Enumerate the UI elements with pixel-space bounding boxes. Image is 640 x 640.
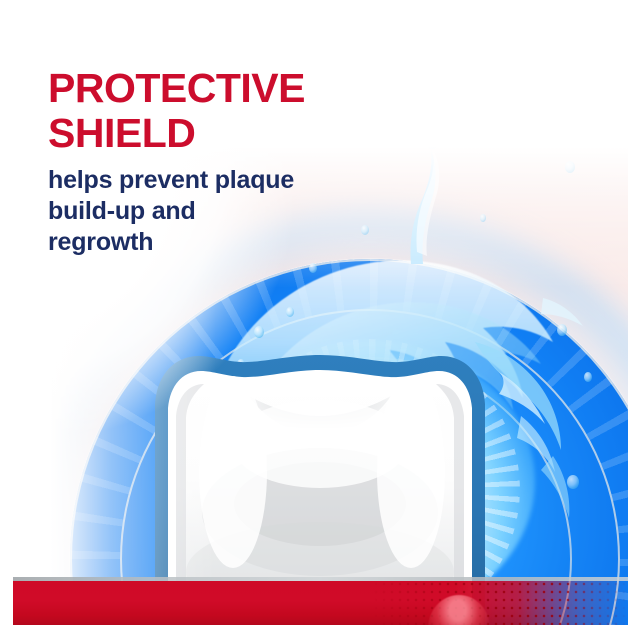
headline-line-1: PROTECTIVE	[48, 65, 305, 111]
subhead-line-3: regrowth	[48, 228, 153, 256]
subhead-line-2: build-up and	[48, 197, 196, 225]
ad-copy-block: PROTECTIVESHIELD helps prevent plaquebui…	[48, 66, 378, 258]
red-gum-band	[13, 581, 628, 625]
gum-halftone-dots	[13, 581, 628, 625]
subheadline: helps prevent plaquebuild-up andregrowth	[48, 165, 378, 258]
headline-line-2: SHIELD	[48, 110, 195, 156]
subhead-line-1: helps prevent plaque	[48, 166, 294, 194]
protective-shield-ad-panel: PROTECTIVESHIELD helps prevent plaquebui…	[0, 0, 640, 640]
ad-canvas: PROTECTIVESHIELD helps prevent plaquebui…	[13, 12, 628, 625]
page-title: PROTECTIVESHIELD	[48, 66, 378, 156]
